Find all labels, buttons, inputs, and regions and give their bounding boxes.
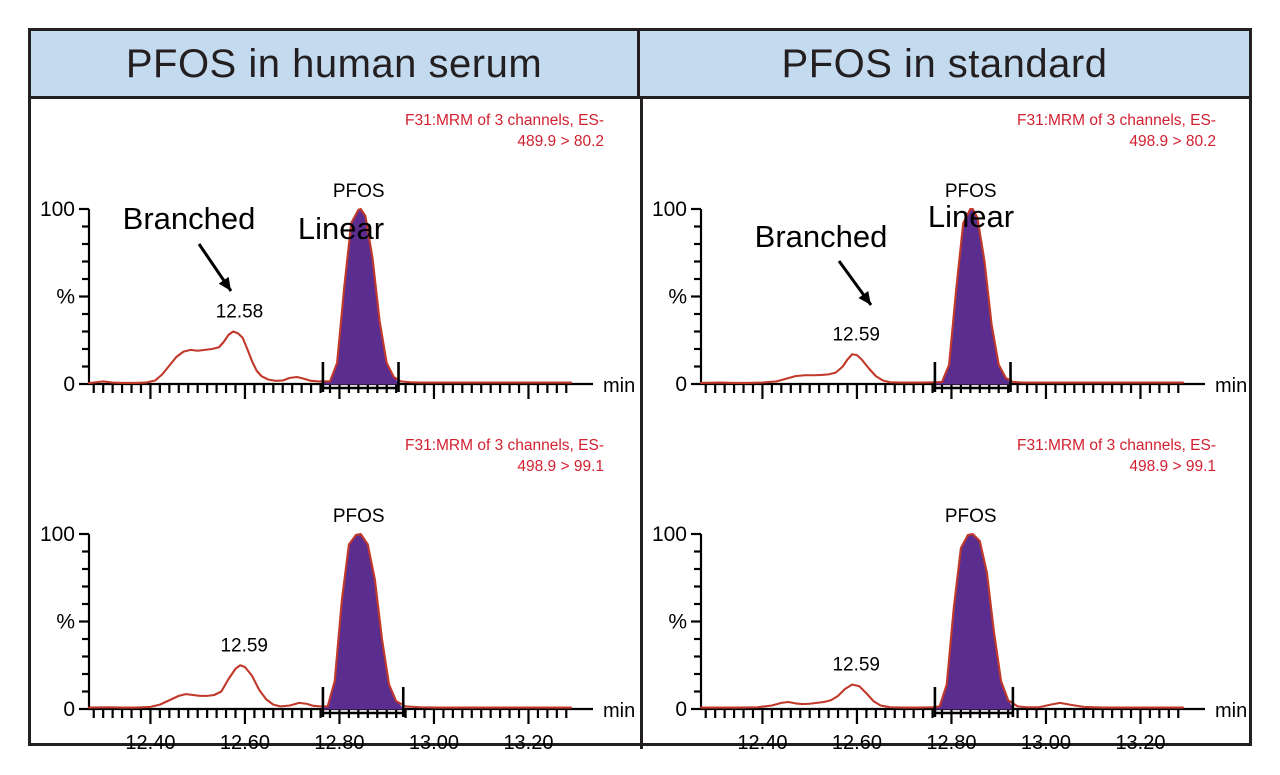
svg-text:0: 0 xyxy=(675,698,687,721)
chromatogram-bottom-right: 0%10012.4012.6012.8013.0013.20min12.59PF… xyxy=(643,424,1252,749)
svg-text:100: 100 xyxy=(652,198,687,221)
panel-top-right: F31:MRM of 3 channels, ES- 498.9 > 80.2 … xyxy=(643,99,1252,424)
chromatogram-top-left: 0%100min12.58PFOSBranchedLinear xyxy=(31,99,640,424)
figure-frame: PFOS in human serum PFOS in standard F31… xyxy=(28,28,1252,746)
svg-text:min: min xyxy=(603,375,635,397)
svg-text:13.00: 13.00 xyxy=(409,732,459,749)
panel-bottom-right: F31:MRM of 3 channels, ES- 498.9 > 99.1 … xyxy=(643,424,1252,749)
svg-text:min: min xyxy=(603,700,635,722)
header-cell-standard: PFOS in standard xyxy=(640,31,1249,99)
chromatogram-bottom-left: 0%10012.4012.6012.8013.0013.20min12.59PF… xyxy=(31,424,640,749)
svg-text:13.00: 13.00 xyxy=(1021,732,1071,749)
panel-title-human-serum: PFOS in human serum xyxy=(126,44,542,84)
svg-text:12.80: 12.80 xyxy=(926,732,976,749)
panel-title-standard: PFOS in standard xyxy=(782,44,1108,84)
svg-text:13.20: 13.20 xyxy=(1115,732,1165,749)
header-cell-human-serum: PFOS in human serum xyxy=(31,31,640,99)
svg-text:0: 0 xyxy=(63,698,75,721)
svg-text:100: 100 xyxy=(652,523,687,546)
svg-text:12.59: 12.59 xyxy=(220,635,268,656)
svg-text:PFOS: PFOS xyxy=(333,181,385,202)
panel-bottom-left: F31:MRM of 3 channels, ES- 498.9 > 99.1 … xyxy=(31,424,640,749)
svg-text:12.59: 12.59 xyxy=(832,655,880,676)
svg-text:12.60: 12.60 xyxy=(832,732,882,749)
svg-text:PFOS: PFOS xyxy=(333,506,385,527)
svg-text:%: % xyxy=(56,286,75,309)
svg-text:PFOS: PFOS xyxy=(945,506,997,527)
svg-text:Linear: Linear xyxy=(928,199,1014,234)
svg-text:12.40: 12.40 xyxy=(125,732,175,749)
svg-text:0: 0 xyxy=(63,373,75,396)
svg-text:12.58: 12.58 xyxy=(216,302,264,323)
svg-text:0: 0 xyxy=(675,373,687,396)
svg-text:%: % xyxy=(668,611,687,634)
svg-text:Branched: Branched xyxy=(123,201,256,236)
panel-header-row: PFOS in human serum PFOS in standard xyxy=(31,31,1249,99)
svg-text:12.59: 12.59 xyxy=(832,324,880,345)
panel-top-left: F31:MRM of 3 channels, ES- 489.9 > 80.2 … xyxy=(31,99,640,424)
svg-text:Linear: Linear xyxy=(298,211,384,246)
svg-text:100: 100 xyxy=(40,198,75,221)
svg-text:Branched: Branched xyxy=(755,219,888,254)
svg-text:%: % xyxy=(668,286,687,309)
svg-text:12.80: 12.80 xyxy=(314,732,364,749)
chromatogram-top-right: 0%100min12.59PFOSBranchedLinear xyxy=(643,99,1252,424)
svg-text:%: % xyxy=(56,611,75,634)
svg-text:12.60: 12.60 xyxy=(220,732,270,749)
svg-text:min: min xyxy=(1215,700,1247,722)
svg-text:12.40: 12.40 xyxy=(737,732,787,749)
svg-text:100: 100 xyxy=(40,523,75,546)
svg-text:13.20: 13.20 xyxy=(503,732,553,749)
svg-text:min: min xyxy=(1215,375,1247,397)
